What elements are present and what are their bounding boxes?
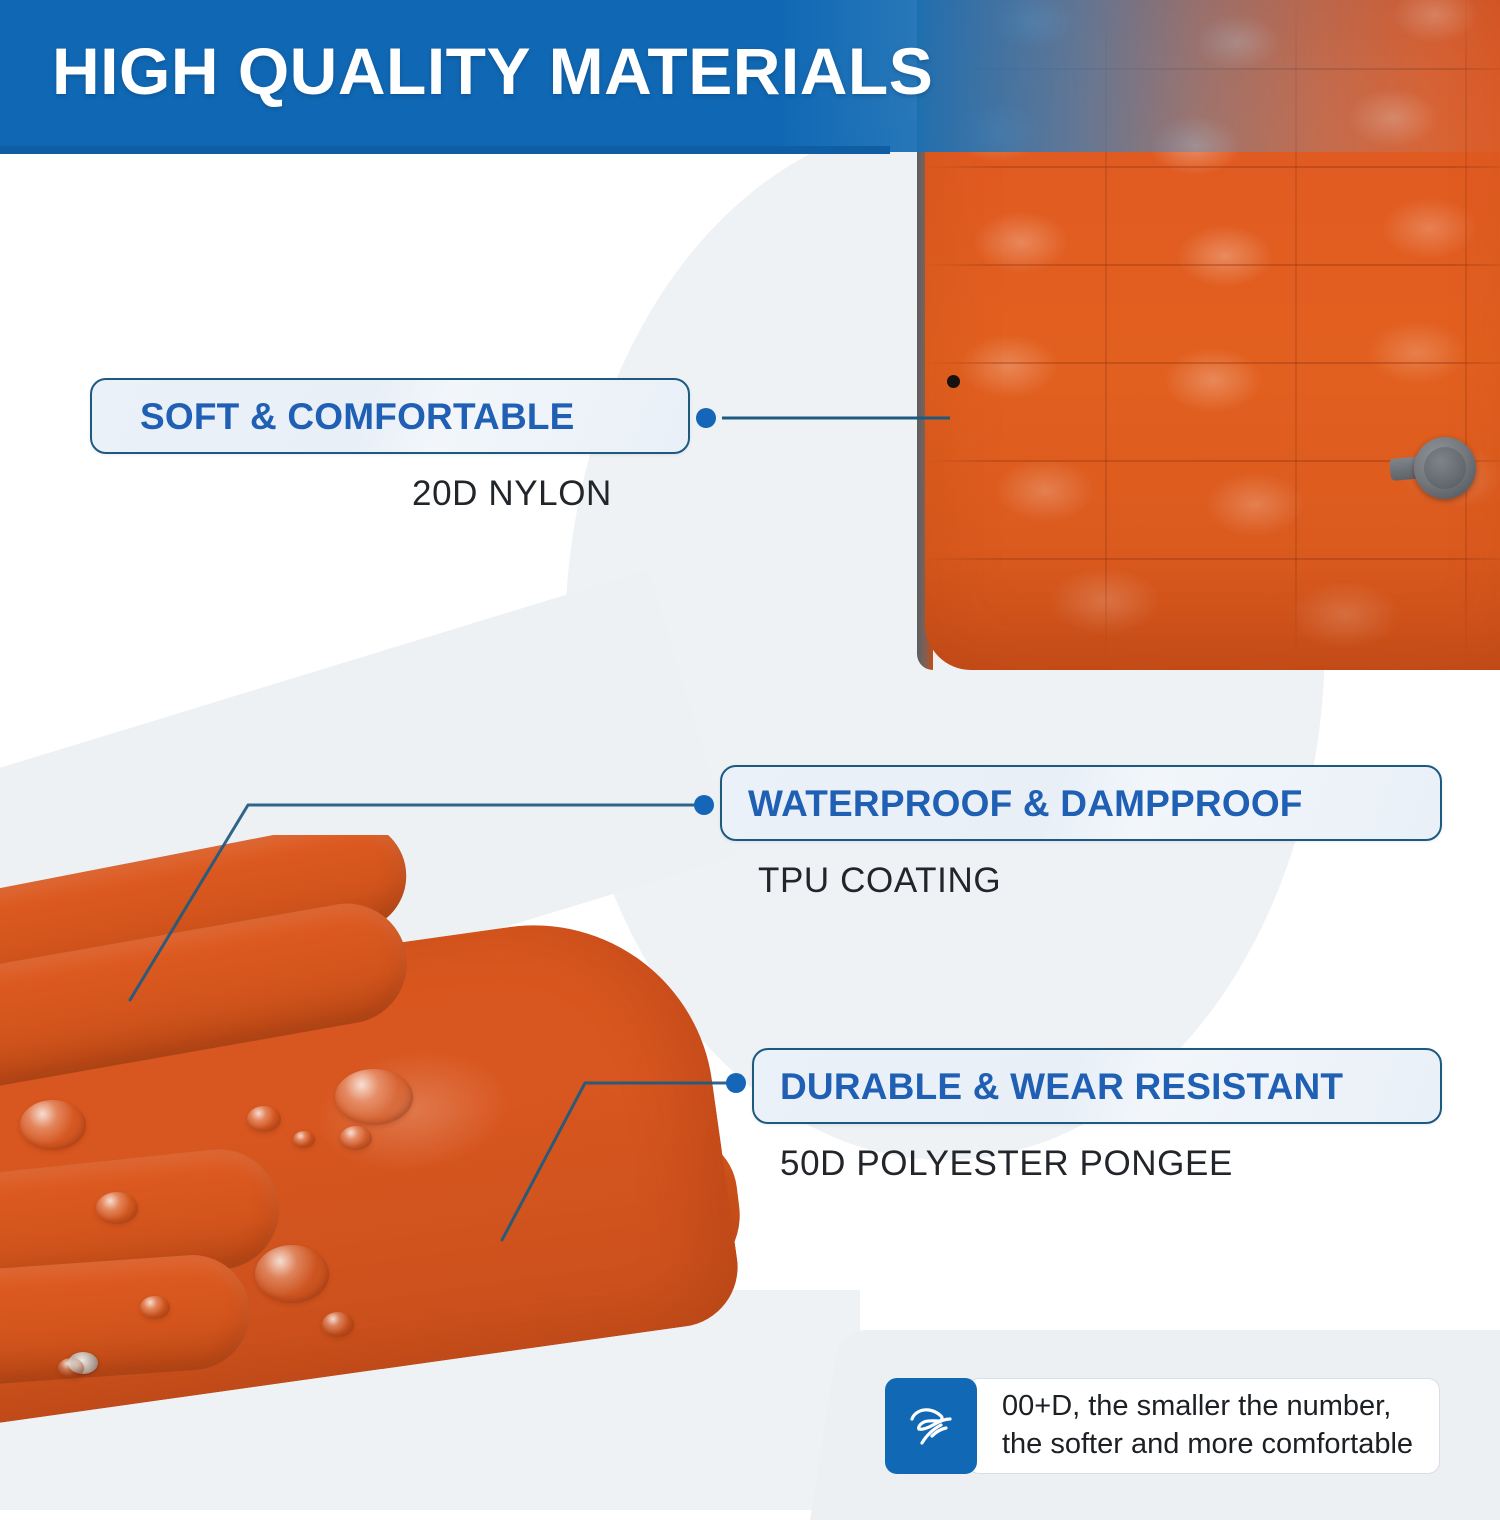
callout-box[interactable]: DURABLE & WEAR RESISTANT	[752, 1048, 1442, 1124]
pad-seam	[925, 166, 1500, 168]
valve-cap	[1424, 447, 1466, 489]
pad-seam	[925, 558, 1500, 560]
callout-title: WATERPROOF & DAMPPROOF	[748, 785, 1303, 822]
water-droplet	[247, 1106, 281, 1132]
pad-seam	[925, 264, 1500, 266]
product-photo-sleeping-pad-waterdrops	[0, 835, 750, 1515]
callout-subtitle: 20D NYLON	[90, 474, 690, 514]
footnote-line-1: 00+D, the smaller the number,	[1002, 1388, 1413, 1426]
water-droplet	[335, 1069, 413, 1125]
page-title: HIGH QUALITY MATERIALS	[52, 38, 933, 104]
callout-subtitle: TPU COATING	[720, 861, 1442, 901]
pad-anchor-point	[947, 375, 960, 388]
water-droplet	[20, 1100, 86, 1150]
infographic-canvas: HIGH QUALITY MATERIALS SOFT & COMFORTABL…	[0, 0, 1500, 1500]
callout-soft-comfortable[interactable]: SOFT & COMFORTABLE 20D NYLON	[90, 378, 690, 514]
fabric-softness-icon	[885, 1378, 977, 1474]
water-droplet	[255, 1245, 329, 1303]
callout-title: SOFT & COMFORTABLE	[118, 398, 575, 435]
callout-subtitle: 50D POLYESTER PONGEE	[752, 1144, 1442, 1184]
water-droplet	[58, 1358, 84, 1378]
header-banner-underline	[0, 146, 890, 154]
water-droplet	[322, 1312, 354, 1337]
pad-seam	[925, 362, 1500, 364]
callout-box[interactable]: WATERPROOF & DAMPPROOF	[720, 765, 1442, 841]
water-droplet	[340, 1126, 372, 1150]
water-droplet	[96, 1192, 138, 1224]
footnote-note: 00+D, the smaller the number, the softer…	[885, 1378, 1440, 1474]
footnote-text-pill: 00+D, the smaller the number, the softer…	[967, 1378, 1440, 1474]
footnote-line-2: the softer and more comfortable	[1002, 1426, 1413, 1464]
inflation-valve	[1390, 437, 1478, 499]
callout-waterproof-dampproof[interactable]: WATERPROOF & DAMPPROOF TPU COATING	[720, 765, 1442, 901]
water-droplet	[140, 1296, 170, 1319]
callout-durable-wear-resistant[interactable]: DURABLE & WEAR RESISTANT 50D POLYESTER P…	[752, 1048, 1442, 1184]
callout-box[interactable]: SOFT & COMFORTABLE	[90, 378, 690, 454]
callout-title: DURABLE & WEAR RESISTANT	[780, 1068, 1343, 1105]
water-droplet	[293, 1131, 315, 1148]
